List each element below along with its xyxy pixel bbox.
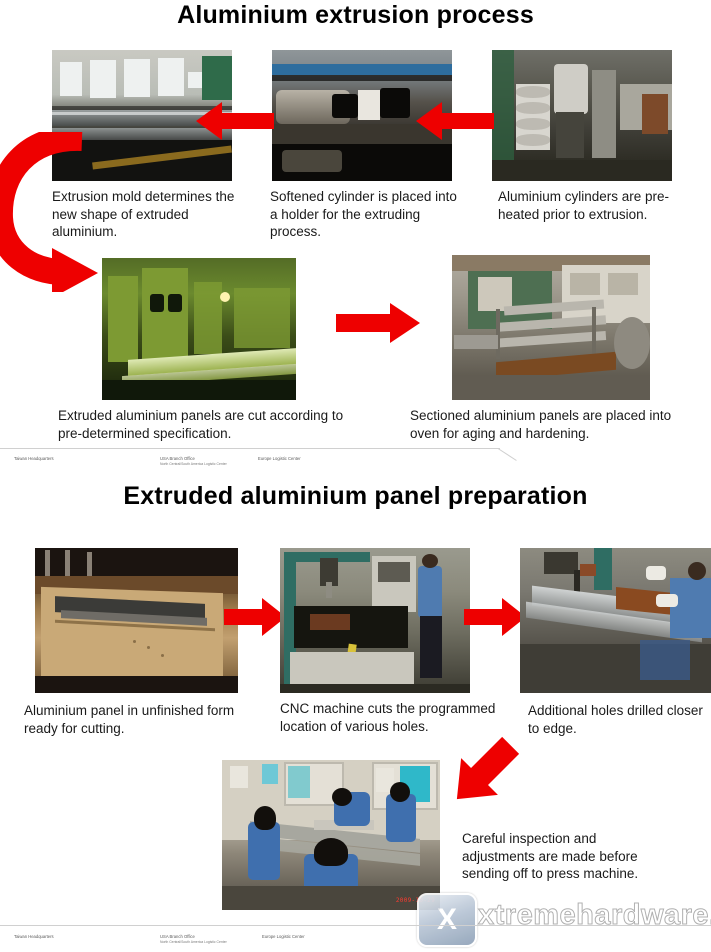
arrow-left-holder-to-mold [196, 100, 274, 142]
footer-label: Taiwan Headquarters [14, 934, 54, 939]
watermark-logo-x-icon: X [417, 893, 477, 947]
footer-label: Europe Logistic Center [258, 456, 301, 461]
watermark-x-glyph: X [437, 905, 457, 935]
arrow-right-panel-to-cnc [224, 596, 286, 638]
watermark-text: xtremehardware.it [478, 899, 711, 932]
footer-label: USA Branch Office [160, 934, 195, 939]
arrow-right-cutting-to-oven [336, 300, 420, 346]
photo-panel-cutting-line [102, 258, 296, 400]
slide-canvas: Aluminium extrusion process [0, 0, 711, 952]
footer-item-usa-2: USA Branch Office North Central/South Am… [160, 934, 227, 945]
footer-label: Taiwan Headquarters [14, 456, 54, 461]
footer-label: Europe Logistic Center [262, 934, 305, 939]
caption-step-4: Extruded aluminium panels are cut accord… [58, 407, 358, 442]
watermark: X xtremehardware.it [415, 893, 711, 945]
photo-unfinished-panel [35, 548, 238, 693]
photo-preheated-cylinders [492, 50, 672, 181]
caption-step-2: Softened cylinder is placed into a holde… [270, 188, 460, 241]
footer-rule-2 [0, 925, 711, 926]
footer-item-europe-2: Europe Logistic Center [262, 934, 305, 940]
footer-item-europe-1: Europe Logistic Center [258, 456, 301, 462]
footer-label: USA Branch Office [160, 456, 195, 461]
photo-cnc-machine [280, 548, 470, 693]
caption-step-9: Careful inspection and adjustments are m… [462, 830, 662, 883]
arrow-diagonal-drilling-to-inspection [438, 718, 538, 818]
photo-edge-drilling [520, 548, 711, 693]
footer-sublabel: North Central/South America Logistic Cen… [160, 462, 227, 468]
arrow-left-preheat-to-holder [416, 100, 494, 142]
footer-tick-1 [498, 448, 517, 461]
photo-inspection-room: 2009-10-29 [222, 760, 440, 910]
caption-step-6: Aluminium panel in unfinished form ready… [24, 702, 239, 737]
photo-aging-oven-racks [452, 255, 650, 400]
caption-step-8: Additional holes drilled closer to edge. [528, 702, 703, 737]
footer-item-taiwan-2: Taiwan Headquarters [14, 934, 54, 940]
footer-rule-1 [0, 448, 500, 449]
caption-step-5: Sectioned aluminium panels are placed in… [410, 407, 700, 442]
page-title-extrusion-process: Aluminium extrusion process [0, 0, 711, 30]
footer-item-usa-1: USA Branch Office North Central/South Am… [160, 456, 227, 467]
footer-sublabel: North Central/South America Logistic Cen… [160, 940, 227, 946]
arrow-right-cnc-to-drilling [464, 596, 526, 638]
footer-item-taiwan-1: Taiwan Headquarters [14, 456, 54, 462]
caption-step-3: Aluminium cylinders are pre-heated prior… [498, 188, 688, 223]
caption-step-1: Extrusion mold determines the new shape … [52, 188, 242, 241]
page-title-panel-preparation: Extruded aluminium panel preparation [0, 481, 711, 511]
